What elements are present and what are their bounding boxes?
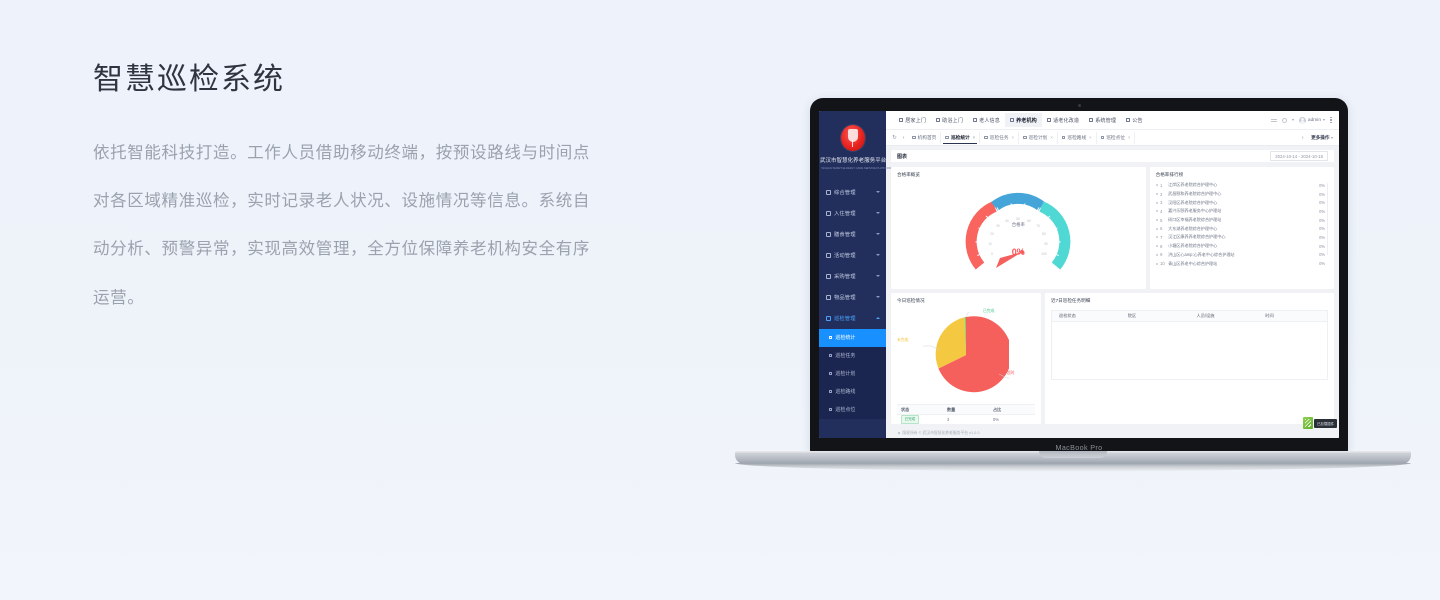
top-navigation-bar: 居家上门 助浴上门 老人信息 养老机构 <box>886 111 1339 130</box>
app-sidebar: 武汉市智慧化养老服务平台 WUHAN SMART ELDERLY CARE SE… <box>819 111 886 438</box>
submenu-icon-1 <box>829 354 832 357</box>
detail-card-title: 近7日巡检任务明细 <box>1051 298 1328 304</box>
pie-card-title: 今日巡检情况 <box>897 298 1035 304</box>
page-content: 图表 2024-10-14 - 2024-10-15 合格率概览 <box>886 146 1339 438</box>
rank-percent: 0% <box>1315 252 1325 257</box>
pie-label-top: 已完成 <box>983 309 994 314</box>
sidebar-submenu: 巡检统计 巡检任务 巡检计划 巡检路线 <box>819 329 886 419</box>
chevron-left-icon[interactable]: ‹ <box>899 133 908 142</box>
nav-tab-1[interactable]: 助浴上门 <box>931 113 968 127</box>
detail-card: 近7日巡检任务明细 巡检状态 院区 人员/设施 时间 <box>1045 293 1334 424</box>
detail-col-2: 人员/设施 <box>1190 313 1259 319</box>
more-options-icon[interactable] <box>1330 117 1332 124</box>
sidebar-menu: 综合管理 入住管理 膳食管理 活动管理 <box>819 182 886 419</box>
more-actions-button[interactable]: 更多操作 <box>1311 135 1333 141</box>
strip-tab-label-1: 巡检统计 <box>951 135 970 141</box>
pie-col-pct: 占比 <box>989 407 1035 413</box>
nav-tab-3[interactable]: 养老机构 <box>1005 113 1042 127</box>
submenu-label-2: 巡检计划 <box>835 370 855 377</box>
bullet-icon <box>1156 202 1158 204</box>
rank-percent: 0% <box>1315 200 1325 205</box>
pie-label-left: 未完成 <box>897 338 908 343</box>
strip-tab-label-2: 巡检任务 <box>990 135 1009 141</box>
gauge-card-title: 合格率概览 <box>897 172 1140 178</box>
strip-tab-4[interactable]: 巡检路线 × <box>1058 132 1097 144</box>
strip-tab-0[interactable]: 机构首页 <box>908 132 941 144</box>
page-description: 依托智能科技打造。工作人员借助移动终端，按预设路线与时间点对各区域精准巡检，实时… <box>93 129 590 322</box>
chevron-up-icon-6 <box>876 317 880 319</box>
pie-cell-count: 3 <box>943 417 989 422</box>
chevron-down-icon-1 <box>876 212 880 214</box>
status-badge: 已完成 <box>901 415 919 424</box>
svg-text:20: 20 <box>991 232 995 236</box>
rank-index: 3 <box>1160 200 1168 205</box>
avatar <box>1299 117 1306 124</box>
gauge-chart-area: 0 10 20 30 40 50 60 70 8 <box>897 181 1140 284</box>
detail-col-0: 巡检状态 <box>1052 313 1121 319</box>
rank-name: 青山区养老中心综合护理站 <box>1168 261 1315 267</box>
strip-tab-icon-0 <box>912 136 916 140</box>
sidebar-item-label-6: 巡检管理 <box>834 314 876 322</box>
strip-tab-5[interactable]: 巡检点位 × <box>1097 132 1136 144</box>
chevron-down-icon-4 <box>876 275 880 277</box>
strip-tab-2[interactable]: 巡检任务 × <box>980 132 1019 144</box>
submenu-icon-3 <box>829 390 832 393</box>
sidebar-item-label-5: 物品管理 <box>834 293 876 301</box>
rank-row[interactable]: 5 硚口区幸福养老院综合护理站 0% <box>1156 216 1325 225</box>
strip-tab-3[interactable]: 巡检计划 × <box>1019 132 1058 144</box>
gauge-value: 0% <box>1012 247 1025 257</box>
extension-tooltip: 已加载插件 <box>1314 419 1337 428</box>
strip-tab-icon-2 <box>984 136 988 140</box>
chevron-down-icon-0 <box>876 191 880 193</box>
nav-tab-label-5: 系统管理 <box>1095 117 1116 124</box>
nav-tab-label-0: 居家上门 <box>905 117 926 124</box>
detail-table: 巡检状态 院区 人员/设施 时间 <box>1051 310 1328 380</box>
strip-tab-label-4: 巡检路线 <box>1067 135 1086 141</box>
rank-name: 江岸区养老院综合护理中心 <box>1168 182 1315 188</box>
svg-text:50: 50 <box>1017 217 1021 221</box>
chevron-down-icon-3 <box>876 254 880 256</box>
rank-list[interactable]: 1 江岸区养老院综合护理中心 0% 2 武昌颐和养老院综合护理中心 0% <box>1156 181 1328 284</box>
strip-tab-icon-3 <box>1023 136 1027 140</box>
sidebar-item-4[interactable]: 采购管理 <box>819 266 886 287</box>
footer-text: 版权所有 © 武汉市智慧化养老服务平台 v1.0.0 <box>902 431 979 436</box>
copyright-icon <box>898 432 900 434</box>
close-icon-1[interactable]: × <box>973 135 975 140</box>
rank-row[interactable]: 7 汉江区康养养老院综合护理中心 0% <box>1156 233 1325 242</box>
pie-summary-table: 状态 数量 占比 已完成 3 0% <box>897 404 1035 424</box>
rank-row[interactable]: 2 武昌颐和养老院综合护理中心 0% <box>1156 190 1325 199</box>
username-label: admin <box>1308 118 1321 123</box>
svg-text:60: 60 <box>1028 219 1032 223</box>
charts-top-row: 合格率概览 <box>891 167 1334 289</box>
rank-percent: 0% <box>1315 235 1325 240</box>
brand-logo[interactable]: 武汉市智慧化养老服务平台 WUHAN SMART ELDERLY CARE SE… <box>819 117 886 170</box>
submenu-item-3[interactable]: 巡检路线 <box>819 383 886 401</box>
panel-title: 图表 <box>897 153 907 160</box>
rank-percent: 0% <box>1315 226 1325 231</box>
strip-tab-icon-5 <box>1101 136 1105 140</box>
svg-text:100: 100 <box>1042 252 1048 256</box>
nav-tab-4[interactable]: 适老化改造 <box>1042 113 1084 127</box>
rank-name: 大东湖养老院综合护理中心 <box>1168 226 1315 232</box>
chevron-down-icon-2 <box>876 233 880 235</box>
bullet-icon <box>1156 219 1158 221</box>
submenu-icon-4 <box>829 408 832 411</box>
sidebar-item-5[interactable]: 物品管理 <box>819 287 886 308</box>
rank-percent: 0% <box>1315 261 1325 266</box>
rank-index: 4 <box>1160 209 1168 214</box>
sidebar-item-2[interactable]: 膳食管理 <box>819 224 886 245</box>
nav-tab-label-1: 助浴上门 <box>942 117 963 124</box>
rank-percent: 0% <box>1315 218 1325 223</box>
rank-name: 汉阳区养老院综合护理中心 <box>1168 200 1315 206</box>
fullscreen-icon[interactable] <box>1271 117 1277 123</box>
menu-icon-1 <box>826 211 831 216</box>
sidebar-item-1[interactable]: 入住管理 <box>819 203 886 224</box>
pie-cell-status: 已完成 <box>897 415 943 424</box>
chevron-down-icon-lang[interactable] <box>1292 119 1294 121</box>
user-menu[interactable]: admin <box>1299 117 1325 124</box>
rank-name: 嘉兴乐颐养老服务中心护理站 <box>1168 208 1315 214</box>
bullet-icon <box>1156 228 1158 230</box>
submenu-item-4[interactable]: 巡检点位 <box>819 401 886 419</box>
bullet-icon <box>1156 245 1158 247</box>
app-main: 居家上门 助浴上门 老人信息 养老机构 <box>886 111 1339 438</box>
rank-card: 合格率排行榜 1 江岸区养老院综合护理中心 0% <box>1150 167 1334 289</box>
laptop-lid: 武汉市智慧化养老服务平台 WUHAN SMART ELDERLY CARE SE… <box>810 98 1348 454</box>
submenu-label-0: 巡检统计 <box>835 334 855 341</box>
nav-tab-5[interactable]: 系统管理 <box>1084 113 1121 127</box>
gauge-card: 合格率概览 <box>891 167 1146 289</box>
bullet-icon <box>1156 184 1158 186</box>
sidebar-item-label-4: 采购管理 <box>834 272 876 280</box>
detail-table-header-row: 巡检状态 院区 人员/设施 时间 <box>1051 310 1328 322</box>
rank-index: 8 <box>1160 244 1168 249</box>
rank-name: 洪山区心amp;心养老中心综合护理站 <box>1168 252 1315 258</box>
rank-index: 6 <box>1160 226 1168 231</box>
svg-text:40: 40 <box>1006 219 1010 223</box>
menu-icon-5 <box>826 295 831 300</box>
detail-col-3: 时间 <box>1258 313 1327 319</box>
menu-icon-0 <box>826 190 831 195</box>
nav-tab-6[interactable]: 公告 <box>1121 113 1148 127</box>
nav-icon-1 <box>936 118 940 122</box>
menu-icon-6 <box>826 316 831 321</box>
rank-card-title: 合格率排行榜 <box>1156 172 1328 178</box>
rank-scrollbar[interactable] <box>1327 183 1328 255</box>
submenu-icon-0 <box>829 336 832 339</box>
pie-col-count: 数量 <box>943 407 989 413</box>
rank-index: 7 <box>1160 235 1168 240</box>
submenu-label-3: 巡检路线 <box>835 388 855 395</box>
top-nav-actions: admin <box>1271 117 1335 124</box>
menu-icon-2 <box>826 232 831 237</box>
menu-icon-3 <box>826 253 831 258</box>
nav-icon-0 <box>899 118 903 122</box>
nav-tab-2[interactable]: 老人信息 <box>968 113 1005 127</box>
shield-logo-icon <box>841 125 865 151</box>
chevron-right-icon[interactable]: › <box>1298 133 1307 142</box>
submenu-label-1: 巡检任务 <box>835 352 855 359</box>
nav-tab-label-6: 公告 <box>1132 117 1142 124</box>
laptop-mockup: 武汉市智慧化养老服务平台 WUHAN SMART ELDERLY CARE SE… <box>735 98 1411 480</box>
rank-row[interactable]: 4 嘉兴乐颐养老服务中心护理站 0% <box>1156 207 1325 216</box>
nav-tab-label-4: 适老化改造 <box>1053 117 1079 124</box>
webcam-icon <box>1078 104 1081 107</box>
detail-col-1: 院区 <box>1121 313 1190 319</box>
nav-icon-3 <box>1010 118 1014 122</box>
strip-tab-label-3: 巡检计划 <box>1029 135 1048 141</box>
nav-icon-2 <box>973 118 977 122</box>
svg-text:70: 70 <box>1037 224 1041 228</box>
rank-name: 汉江区康养养老院综合护理中心 <box>1168 234 1315 240</box>
rank-row[interactable]: 1 江岸区养老院综合护理中心 0% <box>1156 181 1325 190</box>
rank-row[interactable]: 9 洪山区心amp;心养老中心综合护理站 0% <box>1156 251 1325 260</box>
sidebar-item-6[interactable]: 巡检管理 <box>819 308 886 329</box>
nav-icon-6 <box>1126 118 1130 122</box>
bullet-icon <box>1156 210 1158 212</box>
nav-tab-0[interactable]: 居家上门 <box>894 113 931 127</box>
tab-strip-actions: › 更多操作 <box>1298 133 1335 142</box>
bullet-icon <box>1156 263 1158 265</box>
brand-title: 武汉市智慧化养老服务平台 <box>820 156 885 164</box>
pie-label-right: 超时 <box>1007 371 1015 376</box>
page-title: 智慧巡检系统 <box>93 60 613 99</box>
rank-percent: 0% <box>1315 209 1325 214</box>
sidebar-item-label-1: 入住管理 <box>834 209 876 217</box>
gauge-svg: 0 10 20 30 40 50 60 70 8 <box>964 192 1072 274</box>
pie-col-status: 状态 <box>897 407 943 413</box>
tab-strip: ↻ ‹ 机构首页 巡检统计 × 巡检任务 × <box>886 130 1339 146</box>
rank-row[interactable]: 3 汉阳区养老院综合护理中心 0% <box>1156 198 1325 207</box>
pie-cell-pct: 0% <box>989 417 1035 422</box>
chevron-down-icon-user <box>1323 119 1325 121</box>
sidebar-item-0[interactable]: 综合管理 <box>819 182 886 203</box>
page-header-bar: 图表 2024-10-14 - 2024-10-15 <box>891 150 1334 163</box>
pie-table-header-row: 状态 数量 占比 <box>897 404 1035 414</box>
rank-row[interactable]: 6 大东湖养老院综合护理中心 0% <box>1156 224 1325 233</box>
pie-table-row: 已完成 3 0% <box>897 414 1035 424</box>
gauge-label: 合格率 <box>1012 222 1025 228</box>
laptop-base-notch <box>1039 451 1107 458</box>
bullet-icon <box>1156 254 1158 256</box>
date-range-picker[interactable]: 2024-10-14 - 2024-10-15 <box>1270 151 1328 161</box>
pie-chart: 已完成 未完成 超时 <box>923 312 1009 398</box>
rank-index: 10 <box>1160 261 1168 266</box>
bullet-icon <box>1156 193 1158 195</box>
hero-text-column: 智慧巡检系统 依托智能科技打造。工作人员借助移动终端，按预设路线与时间点对各区域… <box>93 60 613 322</box>
submenu-icon-2 <box>829 372 832 375</box>
nav-tab-label-3: 养老机构 <box>1016 117 1037 124</box>
rank-name: 硚口区幸福养老院综合护理站 <box>1168 217 1315 223</box>
submenu-item-2[interactable]: 巡检计划 <box>819 365 886 383</box>
app-footer: 版权所有 © 武汉市智慧化养老服务平台 v1.0.0 <box>891 428 1334 438</box>
rank-percent: 0% <box>1315 244 1325 249</box>
strip-tab-icon-1 <box>945 136 949 140</box>
svg-text:10: 10 <box>989 242 993 246</box>
strip-tab-label-5: 巡检点位 <box>1106 135 1125 141</box>
close-icon-5[interactable]: × <box>1128 135 1130 140</box>
rank-name: 小塘区养老院综合护理中心 <box>1168 243 1315 249</box>
pie-chart-area: 已完成 未完成 超时 <box>897 307 1035 403</box>
rank-name: 武昌颐和养老院综合护理中心 <box>1168 191 1315 197</box>
strip-tab-icon-4 <box>1062 136 1066 140</box>
refresh-icon[interactable]: ↻ <box>890 133 899 142</box>
submenu-item-1[interactable]: 巡检任务 <box>819 347 886 365</box>
charts-bottom-row: 今日巡检情况 <box>891 293 1334 424</box>
rank-index: 9 <box>1160 252 1168 257</box>
sidebar-item-label-2: 膳食管理 <box>834 230 876 238</box>
svg-text:90: 90 <box>1045 242 1049 246</box>
chevron-down-icon-5 <box>876 296 880 298</box>
close-icon-3[interactable]: × <box>1050 135 1052 140</box>
detail-table-body <box>1051 322 1328 380</box>
gauge-chart: 0 10 20 30 40 50 60 70 8 <box>964 192 1072 274</box>
svg-text:0: 0 <box>991 252 993 256</box>
close-icon-2[interactable]: × <box>1012 135 1014 140</box>
submenu-item-0[interactable]: 巡检统计 <box>819 329 886 347</box>
pie-card: 今日巡检情况 <box>891 293 1041 424</box>
menu-icon-4 <box>826 274 831 279</box>
nav-tab-label-2: 老人信息 <box>979 117 1000 124</box>
pie-svg <box>923 312 1009 398</box>
rank-index: 5 <box>1160 218 1168 223</box>
sidebar-item-3[interactable]: 活动管理 <box>819 245 886 266</box>
brand-subtitle: WUHAN SMART ELDERLY CARE SERVICE PLATFOR… <box>821 166 883 170</box>
svg-text:80: 80 <box>1043 232 1047 236</box>
nav-icon-5 <box>1089 118 1093 122</box>
submenu-label-4: 巡检点位 <box>835 406 855 413</box>
svg-text:30: 30 <box>997 224 1001 228</box>
app-screen: 武汉市智慧化养老服务平台 WUHAN SMART ELDERLY CARE SE… <box>819 111 1339 438</box>
bullet-icon <box>1156 236 1158 238</box>
close-icon-4[interactable]: × <box>1089 135 1091 140</box>
sidebar-item-label-0: 综合管理 <box>834 188 876 196</box>
rank-row[interactable]: 8 小塘区养老院综合护理中心 0% <box>1156 242 1325 251</box>
language-icon[interactable] <box>1282 118 1287 123</box>
strip-tab-label-0: 机构首页 <box>918 135 937 141</box>
extension-icon[interactable] <box>1303 417 1313 429</box>
rank-percent: 0% <box>1315 192 1325 197</box>
extension-badge[interactable]: 已加载插件 <box>1303 417 1337 429</box>
rank-percent: 0% <box>1315 183 1325 188</box>
chevron-down-icon-more <box>1331 137 1333 139</box>
sidebar-item-label-3: 活动管理 <box>834 251 876 259</box>
page-header-panel: 图表 2024-10-14 - 2024-10-15 <box>891 150 1334 163</box>
rank-index: 2 <box>1160 192 1168 197</box>
rank-row[interactable]: 10 青山区养老中心综合护理站 0% <box>1156 259 1325 268</box>
more-actions-label: 更多操作 <box>1311 135 1329 141</box>
strip-tab-1[interactable]: 巡检统计 × <box>941 132 980 144</box>
nav-icon-4 <box>1047 118 1051 122</box>
rank-index: 1 <box>1160 183 1168 188</box>
